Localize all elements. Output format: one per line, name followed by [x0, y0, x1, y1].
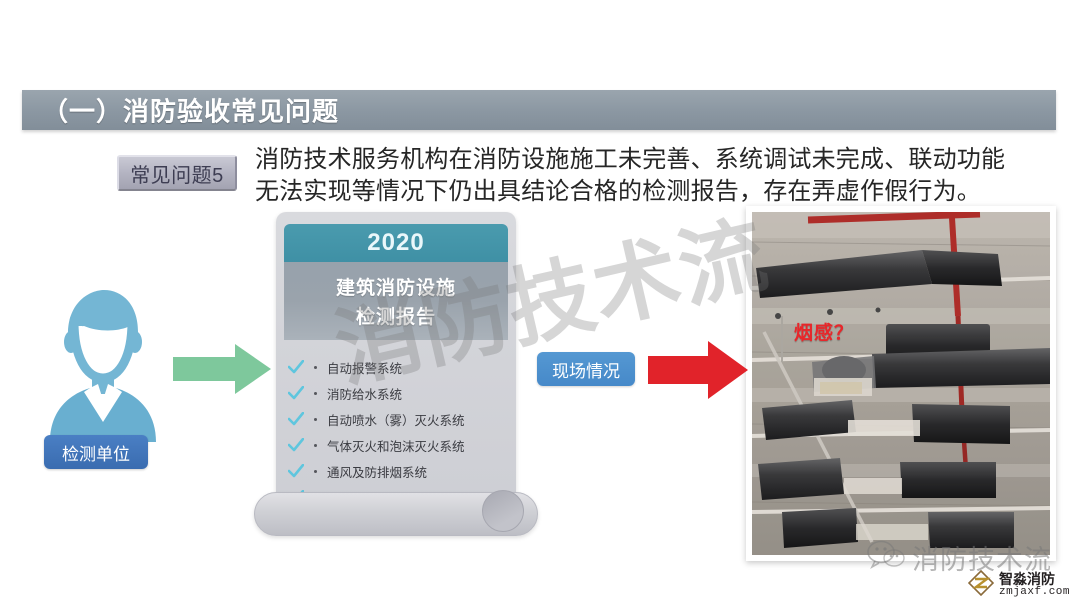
checklist-item-label: 气体灭火和泡沫灭火系统	[327, 436, 465, 455]
bullet-dot-icon	[314, 444, 317, 447]
problem-number-badge: 常见问题5	[117, 155, 237, 191]
company-name: 智淼消防	[999, 572, 1070, 587]
checklist-item: 自动喷水（雾）灭火系统	[288, 406, 504, 432]
inspector-person-icon	[40, 282, 165, 442]
photo-annotation-label: 烟感？	[794, 318, 854, 345]
problem-description: 消防技术服务机构在消防设施施工未完善、系统调试未完成、联动功能 无法实现等情况下…	[255, 144, 1045, 208]
checklist-item-label: 自动报警系统	[327, 358, 402, 377]
slide-canvas: （一）消防验收常见问题 常见问题5 消防技术服务机构在消防设施施工未完善、系统调…	[0, 0, 1080, 607]
company-website: zmjaxf.com	[999, 587, 1070, 599]
checklist-item: 气体灭火和泡沫灭火系统	[288, 432, 504, 458]
section-header-bar: （一）消防验收常见问题	[22, 90, 1056, 130]
check-icon	[288, 438, 304, 452]
report-year-band: 2020	[284, 224, 508, 262]
red-right-arrow-icon	[648, 340, 748, 400]
company-mark-icon	[968, 570, 994, 601]
checklist-item-label: 消防给水系统	[327, 384, 402, 403]
problem-number-badge-label: 常见问题5	[130, 159, 224, 188]
photo-image: 烟感？	[752, 212, 1050, 555]
checklist-item: 消防给水系统	[288, 380, 504, 406]
inspector-label-text: 检测单位	[62, 440, 130, 465]
check-icon	[288, 412, 304, 426]
bullet-dot-icon	[314, 366, 317, 369]
scroll-roll-cap	[482, 490, 524, 532]
report-year: 2020	[367, 229, 424, 257]
report-title-line-2: 检测报告	[356, 302, 436, 329]
checklist-item: 通风及防排烟系统	[288, 458, 504, 484]
check-icon	[288, 386, 304, 400]
inspector-label: 检测单位	[44, 435, 148, 469]
checklist-item: 自动报警系统	[288, 354, 504, 380]
company-logo-text: 智淼消防 zmjaxf.com	[999, 572, 1070, 598]
check-icon	[288, 464, 304, 478]
wechat-icon	[866, 540, 906, 575]
company-logo: 智淼消防 zmjaxf.com	[968, 570, 1070, 601]
bullet-dot-icon	[314, 418, 317, 421]
checklist-item-label: 自动喷水（雾）灭火系统	[327, 410, 465, 429]
checklist-item-label: 通风及防排烟系统	[327, 462, 427, 481]
section-header-title: （一）消防验收常见问题	[42, 92, 339, 129]
report-checklist: 自动报警系统 消防给水系统 自动喷水（雾）灭火系统	[288, 354, 504, 510]
site-condition-photo: 烟感？	[746, 206, 1056, 561]
site-condition-badge: 现场情况	[537, 352, 635, 386]
site-condition-badge-label: 现场情况	[552, 357, 620, 382]
bullet-dot-icon	[314, 392, 317, 395]
report-title-band: 建筑消防设施 检测报告	[284, 262, 508, 340]
green-right-arrow-icon	[173, 344, 271, 394]
problem-description-line-1: 消防技术服务机构在消防设施施工未完善、系统调试未完成、联动功能	[255, 144, 1045, 176]
report-title-line-1: 建筑消防设施	[336, 273, 456, 300]
bullet-dot-icon	[314, 470, 317, 473]
problem-description-line-2: 无法实现等情况下仍出具结论合格的检测报告，存在弄虚作假行为。	[255, 176, 1045, 208]
check-icon	[288, 360, 304, 374]
inspection-report-scroll: 2020 建筑消防设施 检测报告 自动报警系统 消防给水系统	[262, 212, 530, 532]
